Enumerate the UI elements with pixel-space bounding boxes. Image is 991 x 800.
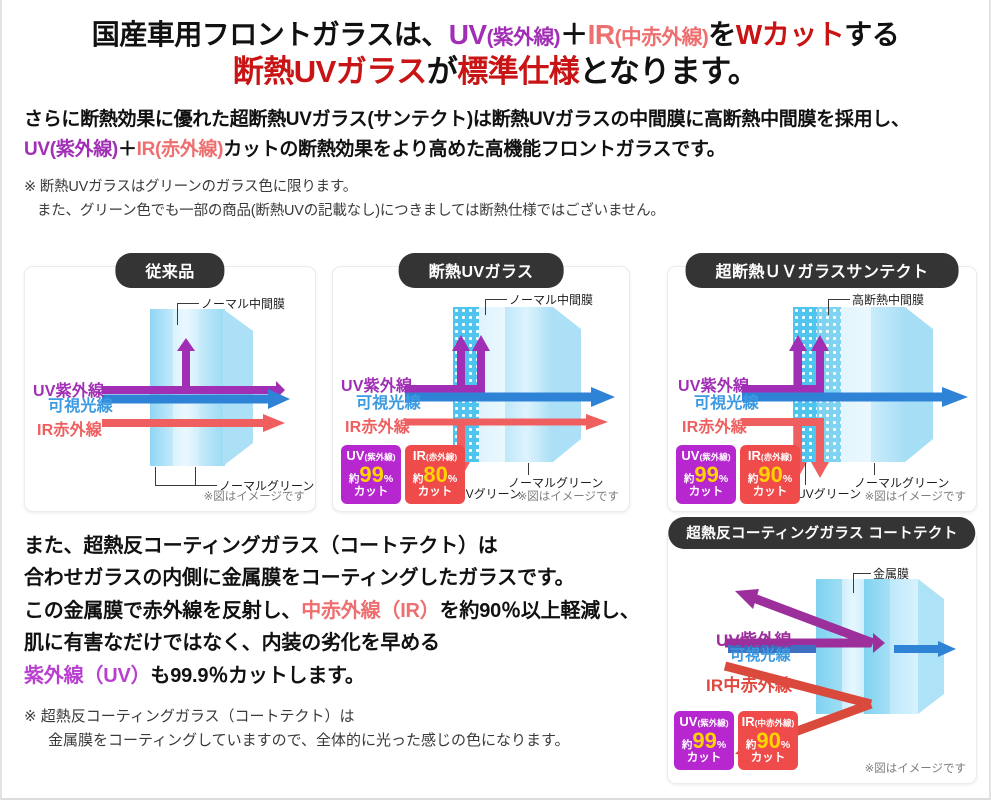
- intro-paragraph-plus: ＋: [118, 139, 137, 160]
- label-visible-light: 可視光線: [730, 644, 791, 665]
- cut-badge-ir-value: 約90%: [738, 730, 798, 752]
- headline-line-2: 断熱UVガラスが標準仕様となります。: [2, 53, 989, 91]
- headline-seg-uv: UV: [449, 19, 487, 50]
- label-ir: IR赤外線: [37, 416, 102, 440]
- coattect-line-3c: を約90％以上軽減し、: [440, 600, 640, 622]
- leader-line-top-h: [828, 299, 850, 300]
- panel-uvcut-glass-figure: UV紫外線 可視光線 IR赤外線 ノーマル中間膜 断熱UVグリーン ノーマルグリ…: [333, 267, 629, 511]
- leader-line-top-v: [485, 299, 486, 315]
- headline: 国産車用フロントガラスは、UV(紫外線)＋IR(中赤外線)をWカットする 断熱U…: [2, 0, 989, 91]
- cut-badge-ir-title: IR(中赤外線): [738, 715, 798, 728]
- leader-line-top-h: [177, 303, 199, 304]
- leader-label-top: 金属膜: [873, 565, 909, 582]
- intro-paragraph-rest: カットの断熱効果をより高めた高機能フロントガラスです。: [223, 139, 725, 160]
- leader-line-bot1-v: [805, 463, 806, 485]
- panel-row: 従来品: [2, 252, 991, 514]
- cut-badge-ir-cut: カット: [405, 487, 465, 499]
- cut-badge-uv-title: UV(紫外線): [676, 449, 736, 462]
- leader-label-top: ノーマル中間膜: [201, 295, 285, 312]
- intro-paragraph-line-1: さらに断熱効果に優れた超断熱UVガラス(サンテクト)は断熱UVガラスの中間膜に高…: [24, 109, 910, 130]
- cut-badge-ir-cut: カット: [740, 487, 800, 499]
- visible-ray-arrow: [403, 387, 615, 407]
- headline-seg-wcut: Wカット: [736, 19, 844, 50]
- uv-ray-arrow: [100, 337, 285, 397]
- cut-badge-uv-value: 約99%: [676, 464, 736, 486]
- coattect-description: また、超熱反コーティングガラス（コートテクト）は 合わせガラスの内側に金属膜をコ…: [24, 530, 664, 692]
- label-visible-light: 可視光線: [694, 389, 759, 413]
- headline-seg-0: 国産車用フロントガラスは、: [92, 19, 449, 50]
- cut-badge-ir-title: IR(赤外線): [740, 449, 800, 462]
- headline-seg-wo: を: [708, 19, 736, 50]
- visible-ray-arrow: [100, 389, 290, 409]
- intro-paragraph-ir: IR(赤外線): [137, 139, 224, 160]
- cut-badge-ir-cut: カット: [738, 753, 798, 765]
- intro-paragraph: さらに断熱効果に優れた超断熱UVガラス(サンテクト)は断熱UVガラスの中間膜に高…: [24, 105, 989, 164]
- leader-line-top-v: [177, 303, 178, 325]
- headline2-seg-ga: が: [427, 54, 458, 89]
- label-ir: IR赤外線: [345, 413, 410, 437]
- glass-bevel: [905, 307, 937, 462]
- panel-conventional-figure: UV紫外線 可視光線 IR赤外線 ノーマル中間膜 ノーマルグリーン ※図はイメー…: [25, 267, 315, 511]
- cut-badge-uv-cut: カット: [674, 753, 734, 765]
- panel-coattect-glass: 超熱反コーティングガラス コートテクト: [667, 530, 977, 784]
- cut-badge-ir-value: 約80%: [405, 464, 465, 486]
- leader-line-bot-v1: [155, 467, 156, 485]
- headline-seg-suru: する: [844, 19, 899, 50]
- coattect-note-line-1: ※ 超熱反コーティングガラス（コートテクト）は: [24, 708, 355, 725]
- intro-note: ※ 断熱UVガラスはグリーンのガラス色に限ります。 また、グリーン色でも一部の商…: [24, 176, 989, 223]
- coattect-line-1: また、超熱反コーティングガラス（コートテクト）は: [24, 535, 498, 557]
- headline2-seg-product: 断熱UVガラス: [233, 54, 427, 89]
- panel-conventional: 従来品: [24, 266, 316, 512]
- intro-note-line-2: また、グリーン色でも一部の商品(断熱UVの記載なし)につきましては断熱仕様ではご…: [24, 200, 989, 223]
- image-disclaimer: ※図はイメージです: [865, 488, 966, 504]
- headline2-seg-tail: となります。: [579, 54, 758, 89]
- coattect-line-2: 合わせガラスの内側に金属膜をコーティングしたガラスです。: [24, 567, 574, 589]
- intro-note-line-1: ※ 断熱UVガラスはグリーンのガラス色に限ります。: [24, 179, 357, 195]
- coattect-note-line-2: 金属膜をコーティングしていますので、全体的に光った感じの色になります。: [24, 729, 664, 753]
- coattect-note: ※ 超熱反コーティングガラス（コートテクト）は 金属膜をコーティングしていますの…: [24, 705, 664, 754]
- intro-paragraph-uv: UV(紫外線): [24, 139, 118, 160]
- leader-line-bot-v2: [195, 467, 196, 485]
- label-visible-light: 可視光線: [48, 392, 113, 416]
- coattect-line-5-uv: 紫外線（UV）: [24, 665, 150, 687]
- cut-badge-uv-title: UV(紫外線): [674, 715, 734, 728]
- cut-badge-uv: UV(紫外線) 約99% カット: [674, 711, 734, 770]
- headline-seg-ir: IR: [588, 19, 615, 50]
- cut-badge-ir-value: 約90%: [740, 464, 800, 486]
- cut-badge-group: UV(紫外線) 約99% カット IR(赤外線) 約80% カット: [341, 445, 465, 504]
- cut-badge-uv-value: 約99%: [341, 464, 401, 486]
- headline-seg-plus: ＋: [560, 19, 588, 50]
- cut-badge-group: UV(紫外線) 約99% カット IR(赤外線) 約90% カット: [676, 445, 800, 504]
- glass-body-outer: [871, 307, 905, 462]
- visible-ray-arrow: [740, 387, 968, 407]
- cut-badge-uv: UV(紫外線) 約99% カット: [676, 445, 736, 504]
- leader-line-top-h: [853, 573, 871, 574]
- infographic-page: 国産車用フロントガラスは、UV(紫外線)＋IR(中赤外線)をWカットする 断熱U…: [0, 0, 991, 800]
- coattect-line-4: 肌に有害なだけではなく、内装の劣化を早める: [24, 632, 440, 654]
- leader-line-top-v: [828, 299, 829, 315]
- cut-badge-ir: IR(赤外線) 約80% カット: [405, 445, 465, 504]
- image-disclaimer: ※図はイメージです: [865, 760, 966, 776]
- ir-ray-arrow: [100, 413, 285, 433]
- panel-coattect-glass-figure: UV紫外線 可視光線 IR中赤外線 金属膜 UV(紫外線) 約99% カット I…: [668, 531, 976, 783]
- panel-uvcut-glass: 断熱UVガラス: [332, 266, 630, 512]
- headline2-seg-standard: 標準仕様: [457, 54, 579, 89]
- leader-label-top: ノーマル中間膜: [509, 291, 593, 308]
- label-ir: IR中赤外線: [706, 671, 792, 696]
- cut-badge-group: UV(紫外線) 約99% カット IR(中赤外線) 約90% カット: [674, 711, 798, 770]
- cut-badge-uv-cut: カット: [341, 487, 401, 499]
- label-ir: IR赤外線: [682, 413, 747, 437]
- cut-badge-ir-title: IR(赤外線): [405, 449, 465, 462]
- leader-label-top: 高断熱中間膜: [852, 291, 924, 308]
- headline-seg-uv-paren: (紫外線): [487, 26, 560, 49]
- cut-badge-ir: IR(赤外線) 約90% カット: [740, 445, 800, 504]
- leader-line-top-v: [853, 573, 854, 593]
- leader-line-bot-h: [155, 485, 217, 486]
- image-disclaimer: ※図はイメージです: [204, 488, 305, 504]
- cut-badge-uv: UV(紫外線) 約99% カット: [341, 445, 401, 504]
- panel-suntect-glass: 超断熱ＵＶガラスサンテクト: [667, 266, 977, 512]
- headline-seg-ir-paren: (中赤外線): [615, 26, 709, 49]
- panel-suntect-glass-figure: UV紫外線 可視光線 IR赤外線 高断熱中間膜 断熱UVグリーン ノーマルグリー…: [668, 267, 976, 511]
- coattect-line-3-ir: 中赤外線（IR）: [301, 600, 439, 622]
- coattect-line-3a: この金属膜で赤外線を反射し、: [24, 600, 301, 622]
- leader-line-top-h: [485, 299, 507, 300]
- coattect-line-5b: も99.9％カットします。: [150, 665, 364, 687]
- cut-badge-uv-title: UV(紫外線): [341, 449, 401, 462]
- cut-badge-ir: IR(中赤外線) 約90% カット: [738, 711, 798, 770]
- image-disclaimer: ※図はイメージです: [518, 488, 619, 504]
- headline-line-1: 国産車用フロントガラスは、UV(紫外線)＋IR(中赤外線)をWカットする: [2, 18, 989, 53]
- cut-badge-uv-cut: カット: [676, 487, 736, 499]
- label-visible-light: 可視光線: [356, 389, 421, 413]
- cut-badge-uv-value: 約99%: [674, 730, 734, 752]
